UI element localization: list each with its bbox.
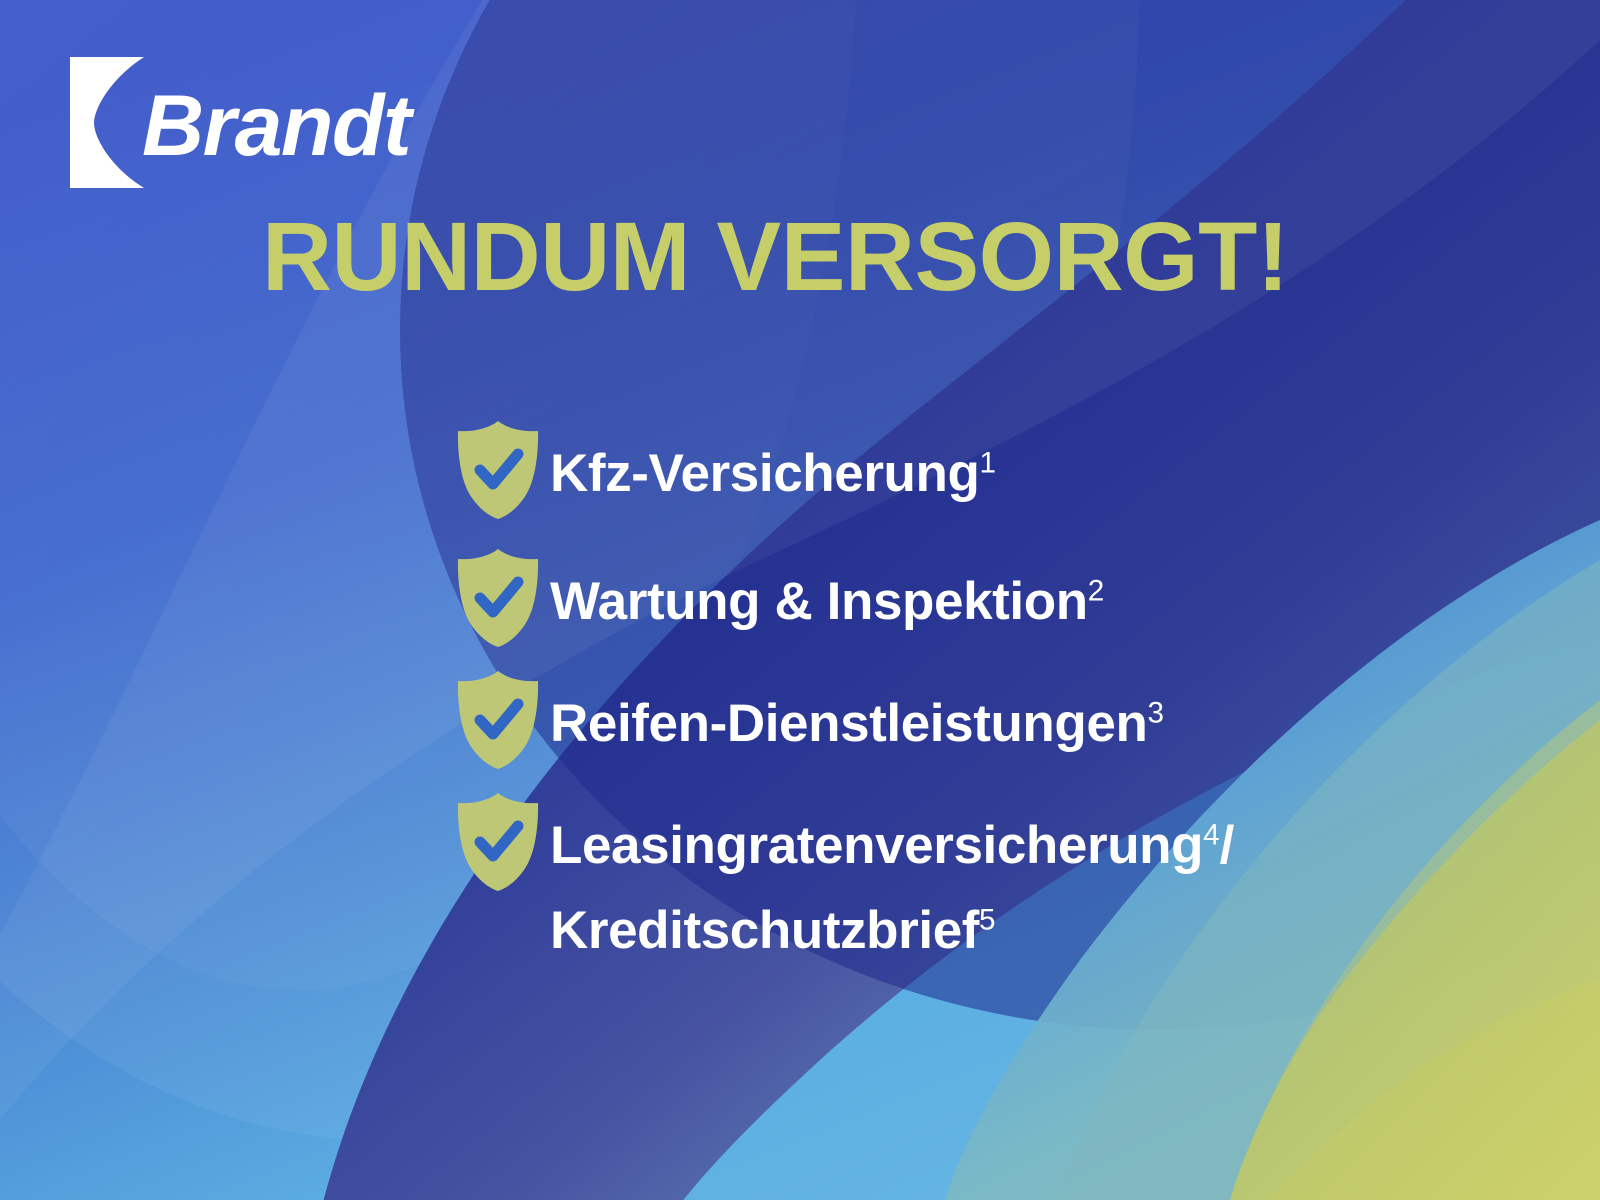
shield-check-icon (452, 790, 544, 894)
list-item: Leasingratenversicherung4/ Kreditschutzb… (452, 788, 1512, 966)
benefit-label: Wartung & Inspektion2 (550, 544, 1104, 637)
brand-logo: Brandt (70, 52, 410, 192)
benefit-label: Reifen-Dienstleistungen3 (550, 666, 1164, 759)
shield-check-icon (452, 546, 544, 650)
list-item: Wartung & Inspektion2 (452, 544, 1512, 650)
list-item: Reifen-Dienstleistungen3 (452, 666, 1512, 772)
benefit-label-text: Leasingratenversicherung (550, 816, 1203, 875)
brand-wordmark: Brandt (142, 83, 410, 169)
shield-check-icon (452, 668, 544, 772)
brandt-bracket-mark-icon (70, 57, 144, 188)
benefit-label: Kfz-Versicherung1 (550, 416, 996, 509)
benefits-list: Kfz-Versicherung1 Wartung & Inspektion2 … (452, 416, 1512, 978)
label-separator: / (1220, 816, 1234, 875)
footnote-marker: 2 (1088, 574, 1105, 607)
footnote-marker: 1 (979, 446, 996, 479)
benefit-label-text: Kfz-Versicherung (550, 444, 979, 503)
page-title: RUNDUM VERSORGT! (262, 208, 1289, 305)
footnote-marker: 4 (1203, 818, 1220, 851)
shield-check-icon (452, 418, 544, 522)
footnote-marker-2: 5 (979, 903, 996, 936)
footnote-marker: 3 (1147, 696, 1164, 729)
benefit-label-text-2: Kreditschutzbrief (550, 901, 979, 960)
benefit-label-line-2: Kreditschutzbrief5 (550, 895, 1234, 966)
promo-graphic: Brandt RUNDUM VERSORGT! Kfz-Versicherung… (0, 0, 1600, 1200)
list-item: Kfz-Versicherung1 (452, 416, 1512, 522)
benefit-label-text: Reifen-Dienstleistungen (550, 694, 1147, 753)
benefit-label: Leasingratenversicherung4/ Kreditschutzb… (550, 788, 1234, 966)
benefit-label-text: Wartung & Inspektion (550, 572, 1088, 631)
